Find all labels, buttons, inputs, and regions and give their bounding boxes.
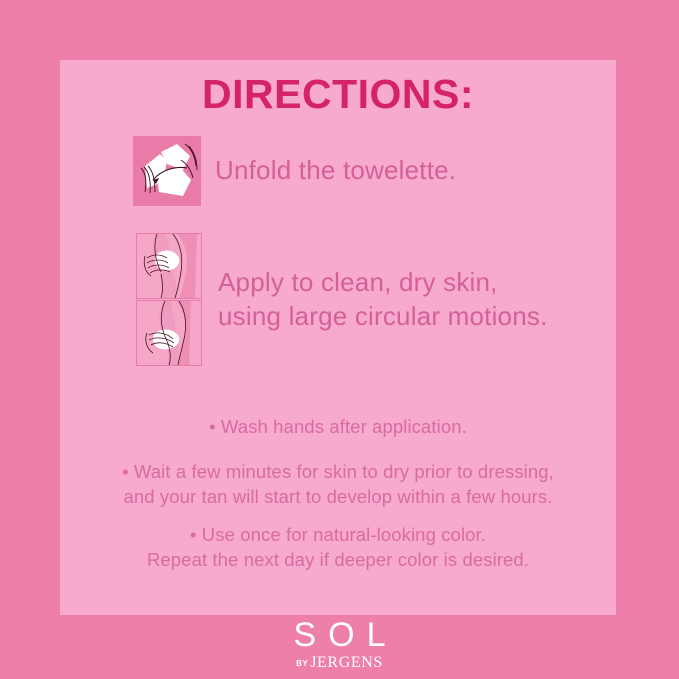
bullet-use-once: • Use once for natural-looking color. Re… (60, 523, 616, 572)
brand-by-label: BY (296, 659, 308, 668)
unfold-towelette-icon (133, 136, 201, 206)
brand-sublabel: BYJERGENS (0, 655, 679, 671)
page-title: DIRECTIONS: (60, 74, 616, 115)
bullet-wait-to-dry: • Wait a few minutes for skin to dry pri… (60, 460, 616, 509)
bullet-wash-hands: • Wash hands after application. (60, 415, 616, 440)
brand-logo: SOL BYJERGENS (0, 618, 679, 671)
step-row-apply: Apply to clean, dry skin, using large ci… (136, 233, 548, 366)
brand-name-sol: SOL (0, 618, 679, 652)
apply-to-leg-icon (136, 300, 202, 366)
step-label-apply: Apply to clean, dry skin, using large ci… (218, 266, 548, 333)
apply-to-hip-icon (136, 233, 202, 299)
step-label-unfold: Unfold the towelette. (215, 154, 456, 187)
apply-icon-stack (136, 233, 202, 366)
inner-content-panel: DIRECTIONS: (60, 60, 616, 615)
directions-panel-image: DIRECTIONS: (0, 0, 679, 679)
step-row-unfold: Unfold the towelette. (133, 136, 456, 206)
brand-name-jergens: JERGENS (310, 654, 383, 671)
